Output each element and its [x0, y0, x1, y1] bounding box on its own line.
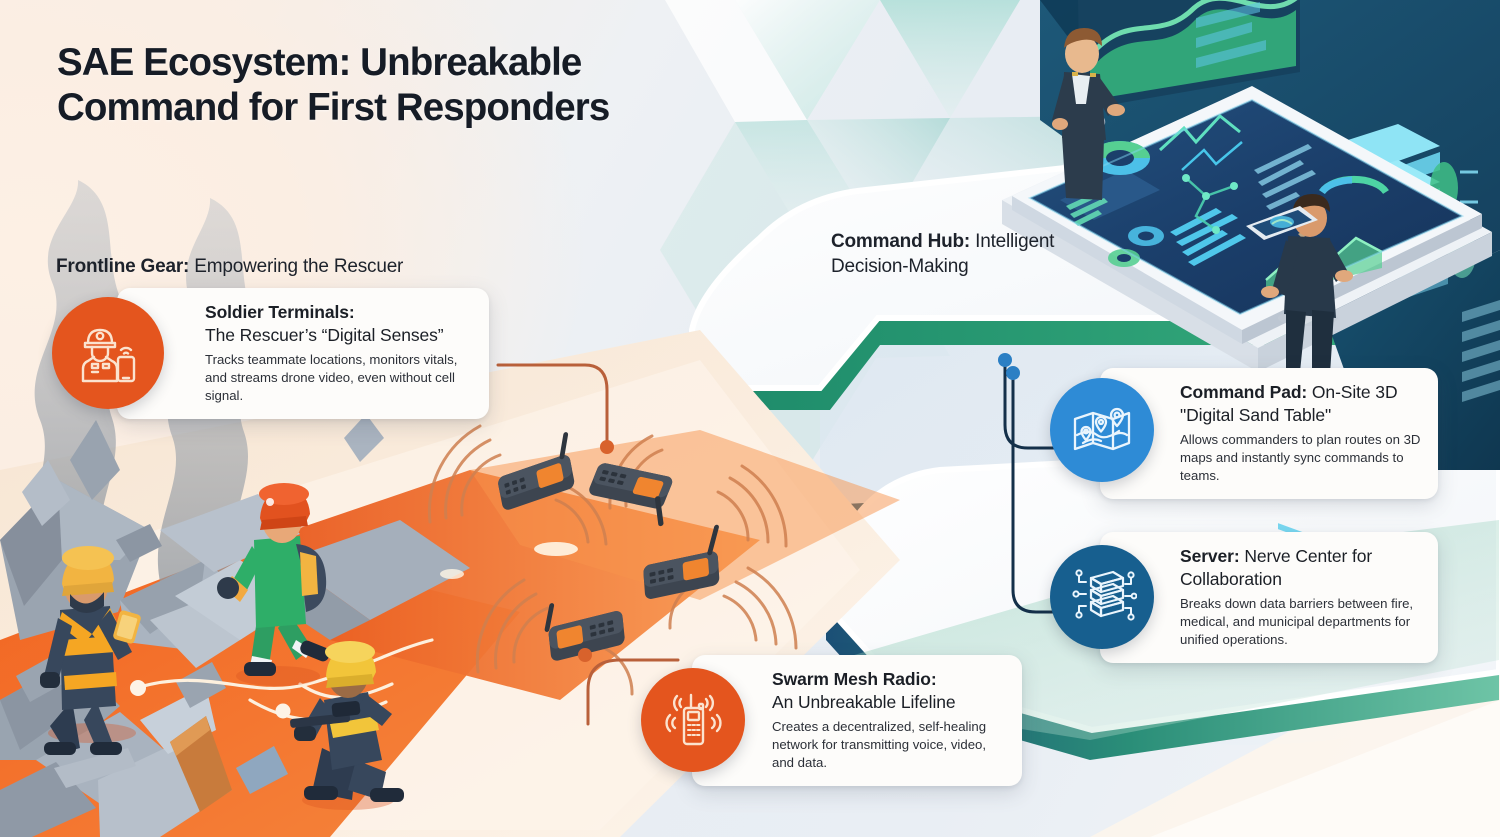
gauge-tablet — [1322, 179, 1386, 192]
section-heading-frontline-gear: Frontline Gear: Empowering the Rescuer — [56, 254, 526, 279]
handheld-radio-signal-icon — [659, 686, 727, 754]
card-desc-server: Breaks down data barriers between fire, … — [1180, 595, 1421, 650]
connector-dot — [600, 440, 614, 454]
orange-terrain — [0, 545, 520, 837]
server-rack-hologram — [1324, 124, 1478, 258]
card-desc-swarm-mesh-radio: Creates a decentralized, self-healing ne… — [772, 718, 1005, 773]
card-title-bold: Swarm Mesh Radio: — [772, 669, 937, 689]
connector-dot — [1006, 366, 1020, 380]
card-desc-command-pad: Allows commanders to plan routes on 3D m… — [1180, 431, 1421, 486]
card-title-bold: Server: — [1180, 546, 1240, 566]
donut-chart — [1090, 141, 1150, 175]
card-desc-soldier-terminals: Tracks teammate locations, monitors vita… — [205, 351, 472, 406]
ground-cables — [136, 640, 432, 720]
card-title-rest: An Unbreakable Lifeline — [772, 692, 956, 712]
card-title-soldier-terminals: Soldier Terminals: The Rescuer’s “Digita… — [205, 301, 472, 347]
card-title-bold: Command Pad: — [1180, 382, 1307, 402]
ground-cream-right2 — [1150, 700, 1500, 837]
line-chart-tablet — [1160, 116, 1242, 170]
kneeling-firefighter — [290, 641, 404, 810]
section-heading-frontline-gear-rest: Empowering the Rescuer — [189, 256, 403, 277]
connector-dot — [998, 353, 1012, 367]
responder-with-tablet — [40, 546, 142, 755]
giant-tablet-dashboard — [1012, 86, 1482, 344]
title-line-1: SAE Ecosystem: Unbreakable — [57, 41, 581, 84]
small-donuts — [1108, 226, 1164, 267]
handheld-tablet — [1246, 206, 1318, 240]
home-button — [1072, 113, 1104, 131]
card-soldier-terminals[interactable]: Soldier Terminals: The Rescuer’s “Digita… — [117, 288, 489, 419]
mesh-radio — [493, 430, 579, 511]
mesh-radio — [541, 586, 625, 664]
server-stack-network-icon — [1067, 562, 1137, 632]
bar-group-tablet — [1170, 208, 1246, 266]
table-surface — [1002, 92, 1492, 348]
rescue-tool — [290, 701, 361, 729]
map-pins-icon — [1067, 395, 1137, 465]
section-heading-frontline-gear-bold: Frontline Gear: — [56, 256, 189, 277]
rubble — [0, 414, 470, 837]
card-title-server: Server: Nerve Center for Collaboration — [1180, 545, 1421, 591]
orange-terrain-3 — [470, 430, 900, 600]
badge-command-pad[interactable] — [1050, 378, 1154, 482]
card-title-command-pad: Command Pad: On-Site 3D "Digital Sand Ta… — [1180, 381, 1421, 427]
running-medic — [217, 483, 332, 686]
rescuer-phone-signal-icon — [72, 317, 144, 389]
area-chart-tablet — [1266, 238, 1382, 296]
orange-terrain-2 — [250, 470, 760, 700]
card-title-rest: The Rescuer’s “Digital Senses” — [205, 325, 444, 345]
analyst-with-tablet — [1246, 194, 1353, 384]
mesh-radio — [641, 523, 723, 600]
mesh-radio — [581, 462, 683, 528]
badge-server[interactable] — [1050, 545, 1154, 649]
card-title-swarm-mesh-radio: Swarm Mesh Radio: An Unbreakable Lifelin… — [772, 668, 1005, 714]
officer-standing — [1052, 28, 1125, 200]
title-line-2: Command for First Responders — [57, 86, 609, 129]
ribbon-upper — [692, 120, 1499, 410]
card-title-bold: Soldier Terminals: — [205, 302, 355, 322]
infographic-canvas: SAE Ecosystem: Unbreakable Command for F… — [0, 0, 1500, 837]
signal-arcs — [429, 426, 796, 694]
page-title: SAE Ecosystem: Unbreakable Command for F… — [57, 41, 817, 130]
section-heading-command-hub-bold: Command Hub: — [831, 231, 970, 252]
connector-dot — [578, 648, 592, 662]
badge-soldier-terminals[interactable] — [52, 297, 164, 409]
section-heading-command-hub: Command Hub: Intelligent Decision-Making — [831, 229, 1066, 280]
connector-soldier-terminals — [498, 365, 607, 440]
badge-swarm-mesh-radio[interactable] — [641, 668, 745, 772]
